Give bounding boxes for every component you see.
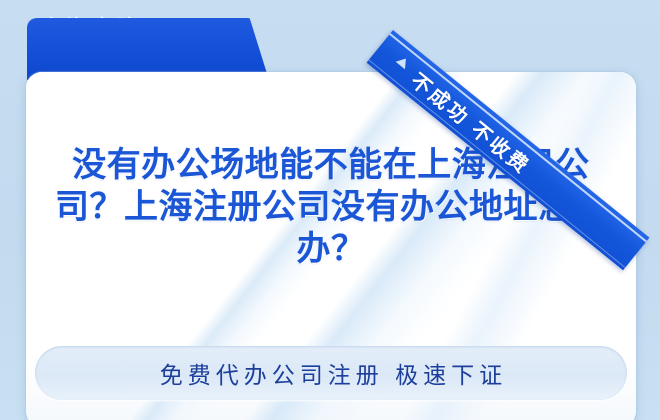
cta-banner-label: 免费代办公司注册 极速下证 [155,356,507,390]
poster-canvas: 上海壹隆 没有办公场地能不能在上海注册公司？上海注册公司没有办公地址怎么办？ 免… [0,0,660,420]
brand-tab[interactable] [27,18,269,80]
triangle-up-icon [396,55,411,70]
content-card: 没有办公场地能不能在上海注册公司？上海注册公司没有办公地址怎么办？ 免费代办公司… [26,72,636,420]
cta-banner[interactable]: 免费代办公司注册 极速下证 [35,346,627,400]
